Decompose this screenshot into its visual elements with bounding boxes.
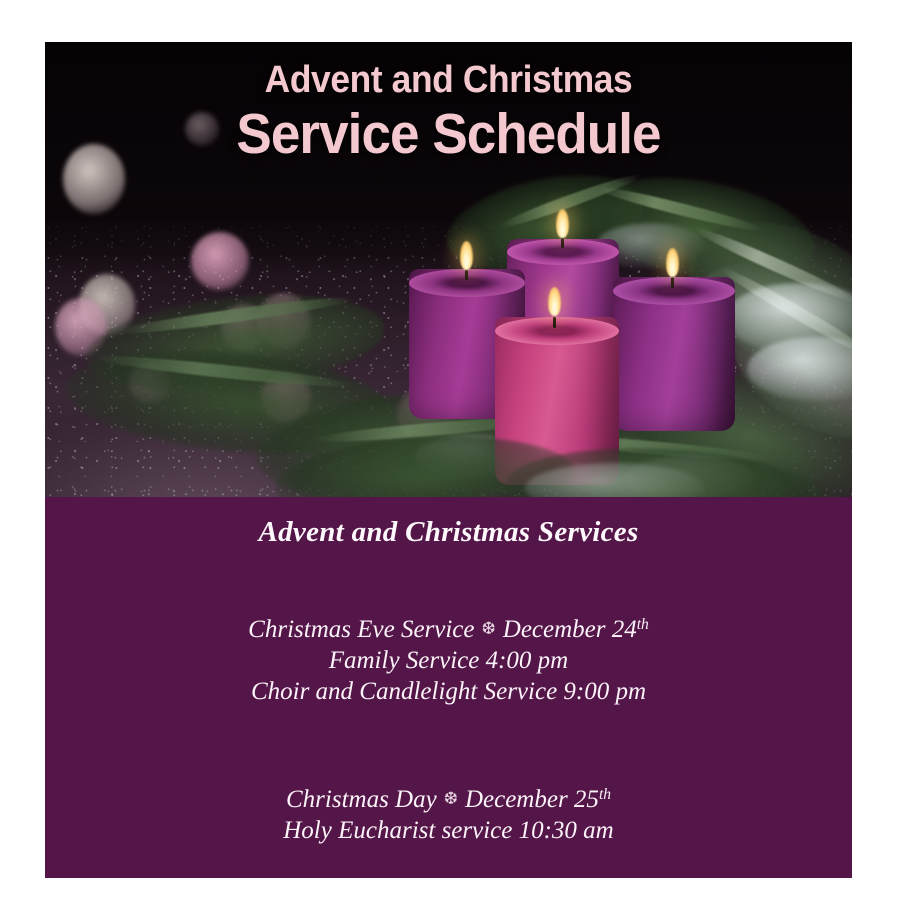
service-date: December 24	[503, 616, 637, 643]
page-title-line2: Service Schedule	[73, 102, 824, 166]
purple-candle-right	[613, 277, 735, 431]
evergreen-wreath	[295, 187, 852, 497]
service-line: Choir and Candlelight Service 9:00 pm	[45, 676, 852, 707]
candle-wick	[465, 269, 468, 280]
candle-top	[495, 317, 619, 345]
candle-wick	[671, 277, 674, 288]
snowflake-icon: ❆	[475, 613, 503, 644]
service-line: Christmas Eve Service❆December 24th	[45, 609, 852, 645]
candle-wick	[561, 237, 564, 248]
candle-flame	[548, 287, 561, 316]
schedule-heading: Advent and Christmas Services	[45, 497, 852, 549]
service-title: Christmas Eve Service	[248, 616, 474, 643]
candle-flame	[666, 248, 679, 277]
snowflake-icon: ❆	[437, 783, 465, 814]
service-date: December 25	[465, 786, 599, 813]
service-title: Christmas Day	[286, 786, 437, 813]
page-title-line1: Advent and Christmas	[73, 58, 824, 102]
service-block-christmas-day: Christmas Day❆December 25th Holy Euchari…	[45, 779, 852, 846]
candle-flame	[460, 241, 473, 270]
date-ordinal-suffix: th	[637, 616, 649, 633]
service-line: Christmas Day❆December 25th	[45, 779, 852, 815]
service-block-christmas-eve: Christmas Eve Service❆December 24th Fami…	[45, 609, 852, 707]
candle-wick	[553, 317, 556, 328]
schedule-panel: Advent and Christmas Services Christmas …	[45, 497, 852, 878]
advent-schedule-poster: Advent and Christmas Service Schedule Ad…	[45, 42, 852, 878]
candle-flame	[556, 209, 569, 238]
service-line: Family Service 4:00 pm	[45, 645, 852, 676]
header-photo: Advent and Christmas Service Schedule	[45, 42, 852, 497]
date-ordinal-suffix: th	[599, 786, 611, 803]
header-titles: Advent and Christmas Service Schedule	[45, 58, 852, 166]
candle-top	[613, 277, 735, 305]
service-line: Holy Eucharist service 10:30 am	[45, 815, 852, 846]
bokeh-light	[191, 232, 249, 290]
